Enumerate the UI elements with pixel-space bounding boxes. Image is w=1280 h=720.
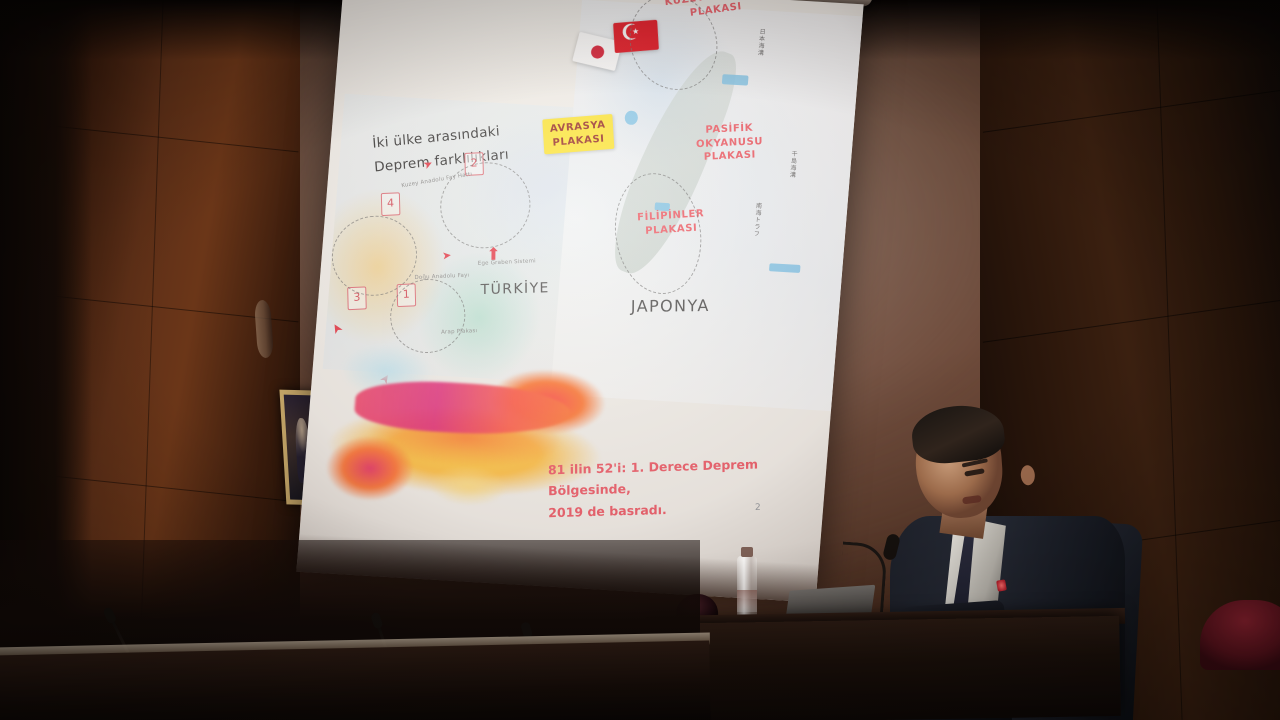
auditorium-presentation-photo: İki ülke arasındaki Deprem farklılıkları…	[0, 0, 1280, 720]
sea-bar-1	[722, 74, 749, 85]
panel-table	[0, 640, 711, 720]
arrow-small-4: ➤	[441, 250, 451, 262]
bottle-label	[737, 590, 757, 612]
pacific-plate-label: PASİFİK OKYANUSU PLAKASI	[696, 121, 764, 164]
presenter-eye	[964, 468, 985, 476]
slide-page-number: 2	[755, 503, 761, 513]
japonya-label: JAPONYA	[631, 296, 710, 316]
bottle-cap	[741, 547, 753, 557]
speaker-podium	[649, 616, 1121, 720]
map-marker-4: 4	[380, 192, 400, 216]
red-lapel-pin	[996, 579, 1007, 591]
screen-surface: İki ülke arasındaki Deprem farklılıkları…	[296, 0, 863, 602]
projection-screen: İki ülke arasındaki Deprem farklılıkları…	[296, 0, 863, 602]
presenter-ear	[1020, 465, 1035, 486]
presentation-slide: İki ülke arasındaki Deprem farklılıkları…	[296, 0, 863, 602]
slide-bottom-note: 81 ilin 52'i: 1. Derece Deprem Bölgesind…	[548, 452, 798, 523]
eurasia-plate-label: AVRASYA PLAKASI	[542, 114, 614, 154]
turkiye-label: TÜRKİYE	[481, 280, 550, 298]
presenter-mouth	[962, 495, 982, 505]
